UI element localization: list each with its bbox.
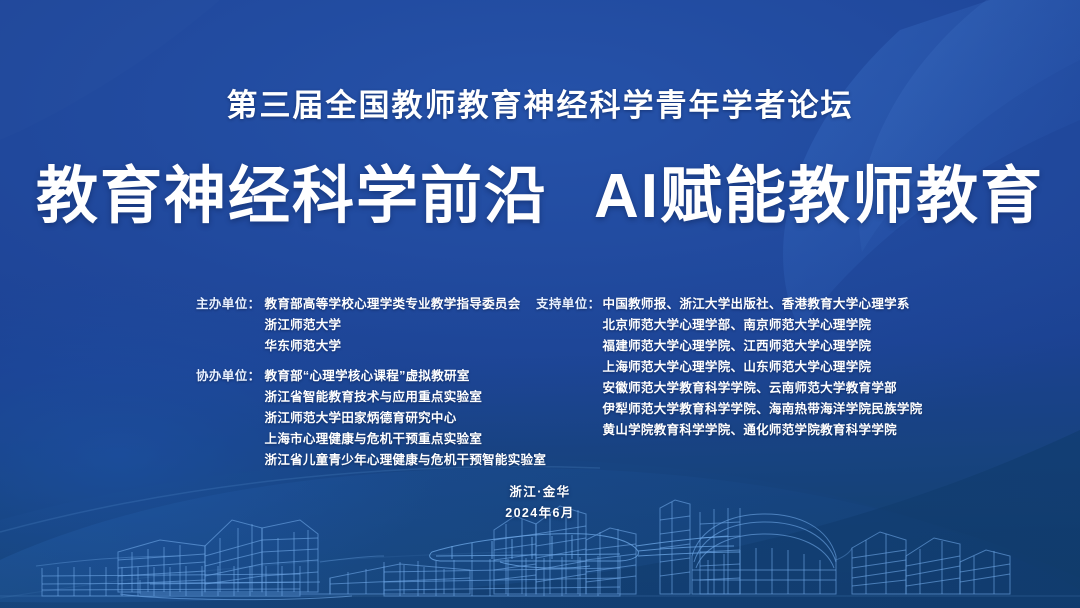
credits-left-column: 主办单位： 教育部高等学校心理学类专业教学指导委员会 浙江师范大学 华东师范大学… <box>196 294 546 480</box>
co-organizer-item: 浙江省儿童青少年心理健康与危机干预智能实验室 <box>265 450 547 471</box>
main-title-part-1: 教育神经科学前沿 <box>36 162 548 231</box>
co-organizer-item: 浙江师范大学田家炳德育研究中心 <box>265 408 547 429</box>
supporters-label: 支持单位： <box>536 294 601 314</box>
skyline-center-grid-slab <box>384 556 620 596</box>
main-title-part-2: AI赋能教师教育 <box>594 162 1044 231</box>
event-date: 2024年6月 <box>0 503 1080 524</box>
skyline-tower-left <box>262 520 318 592</box>
organizers-list: 教育部高等学校心理学类专业教学指导委员会 浙江师范大学 华东师范大学 <box>261 294 547 357</box>
skyline-building-right-b <box>906 538 960 594</box>
supporters-list: 中国教师报、浙江大学出版社、香港教育大学心理学系 北京师范大学心理学部、南京师范… <box>601 294 923 441</box>
organizer-item: 华东师范大学 <box>265 336 547 357</box>
supporter-item: 中国教师报、浙江大学出版社、香港教育大学心理学系 <box>603 294 923 315</box>
skyline-building-right-a <box>852 532 906 594</box>
credits-right-column: 支持单位： 中国教师报、浙江大学出版社、香港教育大学心理学系 北京师范大学心理学… <box>536 294 923 450</box>
event-location: 浙江·金华 <box>0 482 1080 503</box>
co-organizer-item: 浙江省智能教育技术与应用重点实验室 <box>265 387 547 408</box>
co-organizers-block: 协办单位： 教育部“心理学核心课程”虚拟教研室 浙江省智能教育技术与应用重点实验… <box>196 366 546 471</box>
supporter-item: 伊犁师范大学教育科学学院、海南热带海洋学院民族学院 <box>603 399 923 420</box>
poster-subtitle: 第三届全国教师教育神经科学青年学者论坛 <box>0 88 1080 125</box>
supporters-block: 支持单位： 中国教师报、浙江大学出版社、香港教育大学心理学系 北京师范大学心理学… <box>536 294 923 441</box>
supporter-item: 安徽师范大学教育科学学院、云南师范大学教育学部 <box>603 378 923 399</box>
supporter-item: 黄山学院教育科学学院、通化师范学院教育科学学院 <box>603 420 923 441</box>
organizer-item: 浙江师范大学 <box>265 315 547 336</box>
organizers-block: 主办单位： 教育部高等学校心理学类专业教学指导委员会 浙江师范大学 华东师范大学 <box>196 294 546 357</box>
skyline-building-right-c <box>960 550 1010 594</box>
poster-main-title: 教育神经科学前沿AI赋能教师教育 <box>0 160 1080 233</box>
credits-section: 主办单位： 教育部高等学校心理学类专业教学指导委员会 浙江师范大学 华东师范大学… <box>0 294 1080 474</box>
conference-poster: 第三届全国教师教育神经科学青年学者论坛 教育神经科学前沿AI赋能教师教育 主办单… <box>0 0 1080 608</box>
supporter-item: 北京师范大学心理学部、南京师范大学心理学院 <box>603 315 923 336</box>
co-organizer-item: 上海市心理健康与危机干预重点实验室 <box>265 429 547 450</box>
co-organizer-item: 教育部“心理学核心课程”虚拟教研室 <box>265 366 547 387</box>
co-organizers-list: 教育部“心理学核心课程”虚拟教研室 浙江省智能教育技术与应用重点实验室 浙江师范… <box>261 366 547 471</box>
organizer-item: 教育部高等学校心理学类专业教学指导委员会 <box>265 294 547 315</box>
supporter-item: 上海师范大学心理学院、山东师范大学心理学院 <box>603 357 923 378</box>
co-organizers-label: 协办单位： <box>196 366 261 386</box>
poster-footer: 浙江·金华 2024年6月 <box>0 482 1080 524</box>
organizers-label: 主办单位： <box>196 294 261 314</box>
supporter-item: 福建师范大学心理学院、江西师范大学心理学院 <box>603 336 923 357</box>
